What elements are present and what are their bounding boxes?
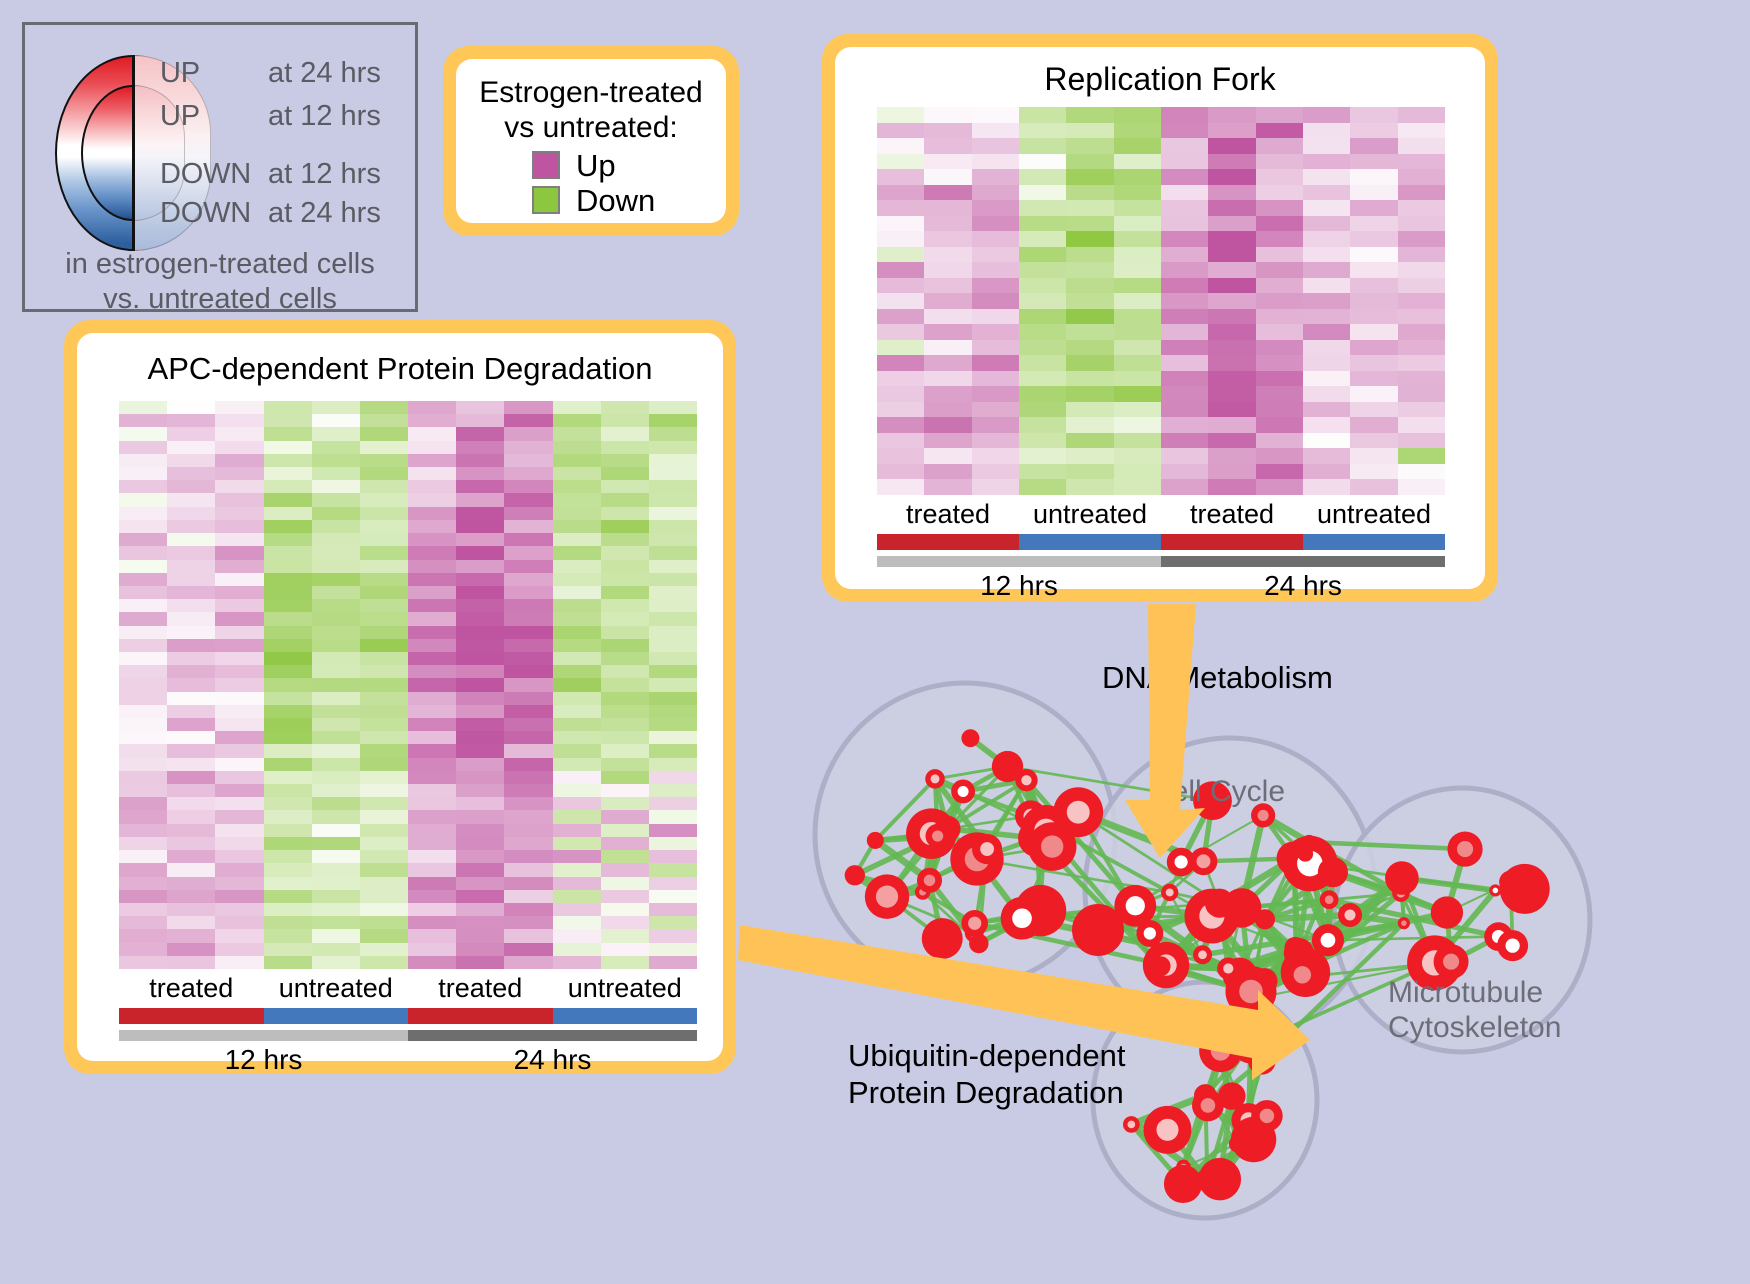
apc-group-0: treated: [119, 973, 264, 1004]
wheel-state-2: DOWN: [160, 158, 251, 191]
wheel-time-0: at 24 hrs: [268, 57, 381, 90]
updown-legend-inner: Estrogen-treated vs untreated: Up Down: [456, 59, 726, 223]
apc-group-labels: treated untreated treated untreated: [119, 973, 697, 1004]
replication-fork-heatmap: [877, 107, 1445, 495]
rf-trt-0: [877, 534, 1019, 550]
updown-legend-card: Estrogen-treated vs untreated: Up Down: [443, 46, 739, 236]
down-swatch: [532, 186, 560, 214]
rf-time-24: [1161, 556, 1445, 567]
cluster-label-dna-metabolism: DNA Metabolism: [1102, 660, 1333, 696]
up-label: Up: [576, 150, 616, 181]
pathway-network: DNA Metabolism Cell Cycle Microtubule Cy…: [790, 600, 1750, 1279]
colorwheel-footer: in estrogen-treated cells vs. untreated …: [25, 247, 415, 318]
apc-time-labels: 12 hrs 24 hrs: [119, 1044, 697, 1076]
replication-fork-inner: Replication Fork treated untreated treat…: [835, 47, 1485, 589]
updown-title-line2: vs untreated:: [470, 110, 712, 145]
apc-trt-3: [553, 1008, 698, 1024]
rf-time-12: [877, 556, 1161, 567]
colorwheel-footer-line2: vs. untreated cells: [25, 282, 415, 317]
wheel-time-1: at 12 hrs: [268, 100, 381, 133]
wheel-time-2: at 12 hrs: [268, 158, 381, 191]
figure-canvas: UP at 24 hrs UP at 12 hrs DOWN at 12 hrs…: [0, 0, 1750, 1279]
wheel-divider: [132, 55, 135, 251]
replication-fork-time-labels: 12 hrs 24 hrs: [877, 570, 1445, 602]
cluster-label-microtubule: Microtubule Cytoskeleton: [1388, 975, 1561, 1046]
legend-item-down: Down: [532, 185, 712, 216]
apc-time-bar: [119, 1030, 697, 1041]
apc-time-12: [119, 1030, 408, 1041]
colorwheel-legend: UP at 24 hrs UP at 12 hrs DOWN at 12 hrs…: [22, 22, 418, 312]
apc-degradation-title: APC-dependent Protein Degradation: [77, 351, 723, 387]
rf-trt-1: [1019, 534, 1161, 550]
wheel-time-3: at 24 hrs: [268, 197, 381, 230]
up-swatch: [532, 151, 560, 179]
rf-trt-2: [1161, 534, 1303, 550]
apc-trt-1: [264, 1008, 409, 1024]
replication-fork-group-labels: treated untreated treated untreated: [877, 499, 1445, 530]
apc-treatment-bar: [119, 1008, 697, 1024]
apc-degradation-inner: APC-dependent Protein Degradation treate…: [77, 333, 723, 1061]
wheel-state-3: DOWN: [160, 197, 251, 230]
rf-group-0: treated: [877, 499, 1019, 530]
cluster-label-cell-cycle: Cell Cycle: [1150, 775, 1285, 809]
replication-fork-title: Replication Fork: [835, 61, 1485, 98]
apc-time-24: [408, 1030, 697, 1041]
legend-item-up: Up: [532, 150, 712, 181]
apc-trt-2: [408, 1008, 553, 1024]
apc-trt-0: [119, 1008, 264, 1024]
apc-timelabel-1: 24 hrs: [408, 1044, 697, 1076]
rf-trt-3: [1303, 534, 1445, 550]
replication-fork-time-bar: [877, 556, 1445, 567]
network-graphic: [790, 600, 1750, 1279]
rf-group-1: untreated: [1019, 499, 1161, 530]
apc-group-3: untreated: [553, 973, 698, 1004]
updown-title-line1: Estrogen-treated: [470, 75, 712, 110]
cluster-label-ubiquitin-degradation: Ubiquitin-dependent Protein Degradation: [848, 1038, 1126, 1111]
rf-group-3: untreated: [1303, 499, 1445, 530]
colorwheel-footer-line1: in estrogen-treated cells: [25, 247, 415, 282]
replication-fork-treatment-bar: [877, 534, 1445, 550]
rf-timelabel-1: 24 hrs: [1161, 570, 1445, 602]
apc-group-2: treated: [408, 973, 553, 1004]
apc-group-1: untreated: [264, 973, 409, 1004]
apc-degradation-card: APC-dependent Protein Degradation treate…: [64, 320, 736, 1074]
replication-fork-card: Replication Fork treated untreated treat…: [822, 34, 1498, 602]
apc-timelabel-0: 12 hrs: [119, 1044, 408, 1076]
updown-legend-title: Estrogen-treated vs untreated:: [470, 75, 712, 146]
rf-group-2: treated: [1161, 499, 1303, 530]
apc-degradation-heatmap: [119, 401, 697, 969]
down-label: Down: [576, 185, 655, 216]
rf-timelabel-0: 12 hrs: [877, 570, 1161, 602]
wheel-state-0: UP: [160, 57, 200, 90]
wheel-state-1: UP: [160, 100, 200, 133]
